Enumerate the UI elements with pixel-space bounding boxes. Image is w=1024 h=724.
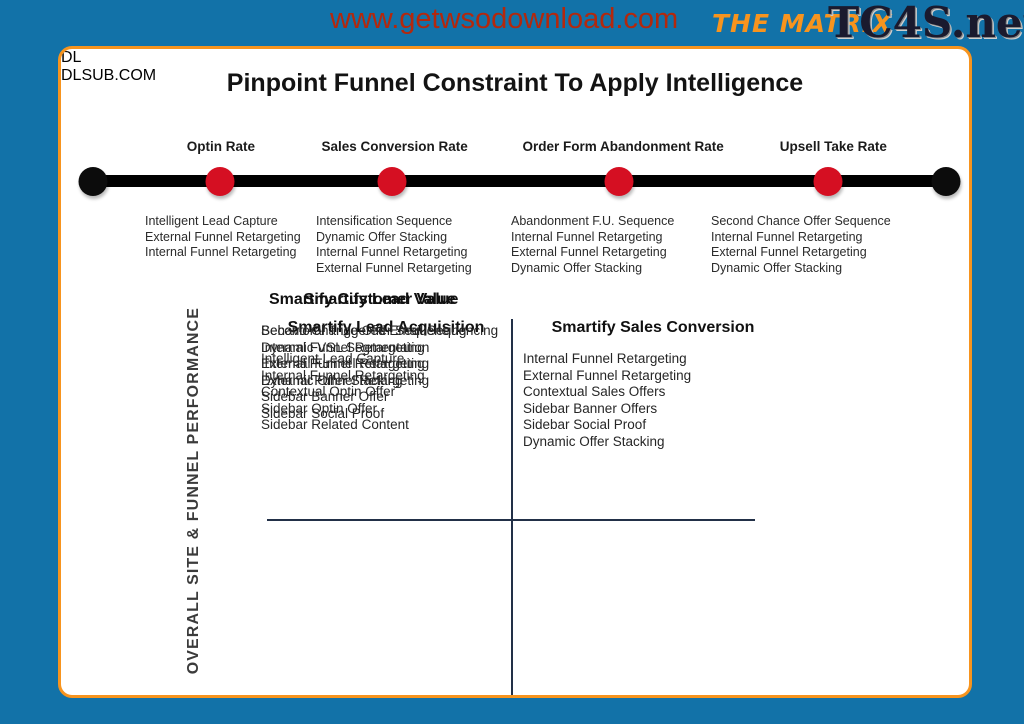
watermark-ghost: DL <box>61 49 969 67</box>
list-item: Internal Funnel Retargeting <box>711 230 891 246</box>
list-item: Sidebar Social Proof <box>523 417 783 434</box>
list-item: Sidebar Banner Offers <box>523 401 783 418</box>
slide-frame: DL Pinpoint Funnel Constraint To Apply I… <box>58 46 972 698</box>
timeline-dot-4 <box>814 167 843 196</box>
quadrant-sales-conversion: Smartify Sales Conversion Internal Funne… <box>523 319 783 450</box>
list-item: Intelligent Lead Capture <box>145 214 301 230</box>
timeline-stage-label-3: Upsell Take Rate <box>780 139 887 154</box>
timeline-dot-1 <box>205 167 234 196</box>
list-item: Intensification Sequence <box>316 214 472 230</box>
quadrant-horizontal-divider <box>267 519 755 521</box>
timeline-stage-list-0: Intelligent Lead CaptureExternal Funnel … <box>145 214 301 261</box>
list-item: Internal Funnel Retargeting <box>511 230 674 246</box>
axis-label-vertical: OVERALL SITE & FUNNEL PERFORMANCE <box>179 274 209 674</box>
watermark-getwso: www.getwsodownload.com <box>330 3 678 36</box>
list-item: External Funnel Retargeting <box>316 261 472 277</box>
timeline-dot-0 <box>78 167 107 196</box>
list-item: Internal Funnel Retargeting <box>261 340 466 357</box>
timeline-stage-list-1: Intensification SequenceDynamic Offer St… <box>316 214 472 276</box>
list-item: Dynamic Offer Stacking <box>511 261 674 277</box>
timeline-stage-list-3: Second Chance Offer SequenceInternal Fun… <box>711 214 891 276</box>
axis-label-text: OVERALL SITE & FUNNEL PERFORMANCE <box>185 307 203 674</box>
quadrant-list: Second-Chance Offer SequencingInternal F… <box>261 323 466 422</box>
timeline-stage-label-1: Sales Conversion Rate <box>321 139 467 154</box>
list-item: Abandonment F.U. Sequence <box>511 214 674 230</box>
list-item: External Funnel Retargeting <box>145 230 301 246</box>
list-item: Dynamic Offer Stacking <box>316 230 472 246</box>
list-item: Dynamic Offer Stacking <box>261 373 466 390</box>
list-item: Dynamic Offer Stacking <box>711 261 891 277</box>
timeline-stage-label-2: Order Form Abandonment Rate <box>522 139 723 154</box>
quadrant-matrix: Smartify Lead Acquisition Intelligent Le… <box>261 291 961 691</box>
list-item: External Funnel Retargeting <box>711 245 891 261</box>
page-title: Pinpoint Funnel Constraint To Apply Inte… <box>61 69 969 98</box>
timeline-dot-2 <box>378 167 407 196</box>
quadrant-list: Internal Funnel RetargetingExternal Funn… <box>523 351 783 450</box>
list-item: Internal Funnel Retargeting <box>523 351 783 368</box>
timeline-stage-list-2: Abandonment F.U. SequenceInternal Funnel… <box>511 214 674 276</box>
quadrant-title: Smartify Sales Conversion <box>523 319 783 337</box>
list-item: Dynamic Offer Stacking <box>523 434 783 451</box>
list-item: External Funnel Retargeting <box>261 356 466 373</box>
list-item: Internal Funnel Retargeting <box>145 245 301 261</box>
quadrant-vertical-divider <box>511 319 513 698</box>
list-item: Second Chance Offer Sequence <box>711 214 891 230</box>
timeline-stage-label-0: Optin Rate <box>187 139 255 154</box>
timeline-dot-5 <box>932 167 961 196</box>
list-item: Sidebar Social Proof <box>261 406 466 423</box>
quadrant-title: Smartify Customer Value <box>261 291 466 309</box>
list-item: Sidebar Banner Offer <box>261 389 466 406</box>
list-item: Contextual Sales Offers <box>523 384 783 401</box>
list-item: External Funnel Retargeting <box>511 245 674 261</box>
list-item: External Funnel Retargeting <box>523 368 783 385</box>
list-item: Internal Funnel Retargeting <box>316 245 472 261</box>
list-item: Second-Chance Offer Sequencing <box>261 323 466 340</box>
quadrant-customer-value: Smartify Customer Value Second-Chance Of… <box>261 291 466 422</box>
timeline-labels: Optin RateSales Conversion RateOrder For… <box>61 139 972 159</box>
watermark-tc4s: TC4S.net <box>828 0 1024 47</box>
timeline-dot-3 <box>605 167 634 196</box>
